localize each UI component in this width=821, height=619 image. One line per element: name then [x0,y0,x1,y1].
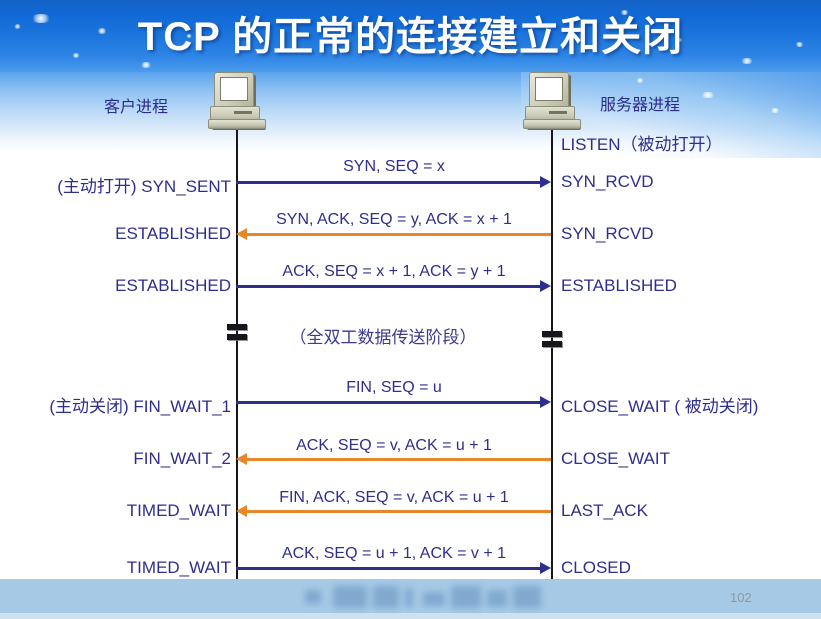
server-lifeline [551,128,553,601]
client-lifeline [236,128,238,601]
slide-canvas: TCP 的正常的连接建立和关闭 客户进程 服务器进程 LISTEN（被动打开） … [0,0,821,619]
arrow-syn-ack [247,233,551,236]
client-state-syn-sent: (主动打开) SYN_SENT [57,172,231,197]
server-state-syn-rcvd-1: SYN_RCVD [561,172,654,192]
client-process-label: 客户进程 [104,93,168,117]
arrow-head-icon [540,396,551,408]
server-computer-icon [523,72,579,130]
client-timeline-break-icon [227,324,247,330]
message-label-ack-fin: ACK, SEQ = v, ACK = u + 1 [296,437,492,455]
arrow-ack-fin [247,458,551,461]
server-state-closed: CLOSED [561,558,631,578]
client-state-established-1: ESTABLISHED [115,224,231,244]
server-state-established: ESTABLISHED [561,276,677,296]
client-state-established-2: ESTABLISHED [115,276,231,296]
server-timeline-break-icon [542,341,562,347]
client-state-fin-wait-2: FIN_WAIT_2 [133,449,231,469]
client-computer-icon [208,72,264,130]
arrow-head-icon [540,176,551,188]
arrow-head-icon [540,280,551,292]
message-label-final-ack: ACK, SEQ = u + 1, ACK = v + 1 [282,545,506,563]
page-title: TCP 的正常的连接建立和关闭 [0,4,821,62]
arrow-fin [236,401,541,404]
server-timeline-break-icon [542,331,562,337]
footer-edge [0,613,821,619]
client-state-timed-wait-1: TIMED_WAIT [127,501,231,521]
arrow-head-icon [236,505,247,517]
arrow-ack-handshake [236,285,541,288]
server-state-syn-rcvd-2: SYN_RCVD [561,224,654,244]
arrow-fin-ack [247,510,551,513]
message-label-fin-ack: FIN, ACK, SEQ = v, ACK = u + 1 [279,489,509,507]
arrow-final-ack [236,567,541,570]
message-label-ack-handshake: ACK, SEQ = x + 1, ACK = y + 1 [282,263,505,281]
arrow-head-icon [236,453,247,465]
page-number: 102 [730,590,752,605]
client-state-timed-wait-2: TIMED_WAIT [127,558,231,578]
full-duplex-phase-label: （全双工数据传送阶段） [290,323,477,348]
arrow-syn [236,181,541,184]
blurred-watermark [305,586,555,612]
arrow-head-icon [236,228,247,240]
message-label-syn: SYN, SEQ = x [343,158,445,176]
server-process-label: 服务器进程 [600,91,680,115]
server-state-close-wait-1: CLOSE_WAIT ( 被动关闭) [561,392,758,417]
client-state-fin-wait-1: (主动关闭) FIN_WAIT_1 [49,392,231,417]
server-state-close-wait-2: CLOSE_WAIT [561,449,670,469]
message-label-syn-ack: SYN, ACK, SEQ = y, ACK = x + 1 [276,211,512,229]
client-timeline-break-icon [227,334,247,340]
arrow-head-icon [540,562,551,574]
message-label-fin: FIN, SEQ = u [346,379,442,397]
server-state-listen: LISTEN（被动打开） [561,130,723,155]
server-state-last-ack: LAST_ACK [561,501,648,521]
